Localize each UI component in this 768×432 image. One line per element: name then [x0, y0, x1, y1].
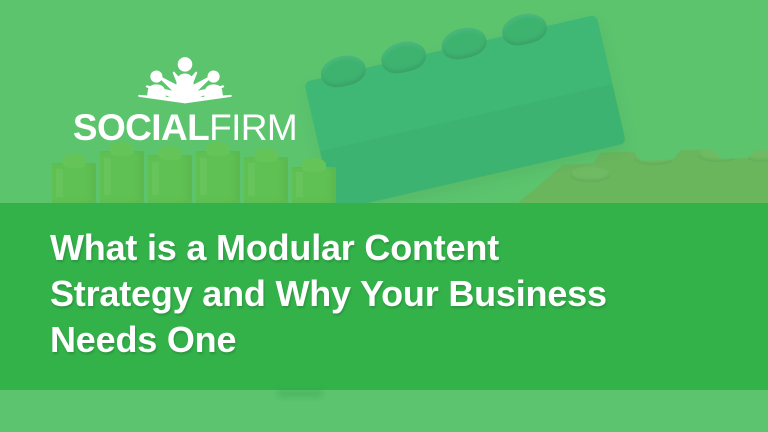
headline-band: What is a Modular Content Strategy and W…	[0, 203, 768, 390]
green-brick-row	[52, 141, 342, 203]
brick-stud	[698, 147, 738, 162]
brick-stud	[746, 147, 768, 162]
brick-stud	[439, 24, 490, 63]
green-brick	[292, 167, 336, 203]
socialfirm-people-leaf-icon	[131, 54, 239, 106]
logo-wordmark: SOCIALFIRM	[73, 108, 297, 148]
green-brick	[244, 157, 288, 203]
logo-word-social: SOCIAL	[73, 107, 209, 148]
green-brick	[148, 155, 192, 203]
brick-stud	[378, 37, 429, 76]
page-title: What is a Modular Content Strategy and W…	[50, 225, 650, 363]
green-brick	[196, 151, 240, 203]
green-brick	[52, 163, 96, 203]
logo-word-firm: FIRM	[209, 107, 297, 148]
brick-stud	[634, 150, 674, 165]
socialfirm-logo[interactable]: SOCIALFIRM	[66, 54, 304, 148]
blog-header-banner: SOCIALFIRM What is a Modular Content Str…	[0, 0, 768, 432]
green-brick	[100, 151, 144, 203]
brick-stud	[570, 167, 610, 182]
brick-stud	[318, 51, 369, 90]
bottom-strip	[0, 390, 768, 432]
brick-stud	[499, 10, 550, 49]
